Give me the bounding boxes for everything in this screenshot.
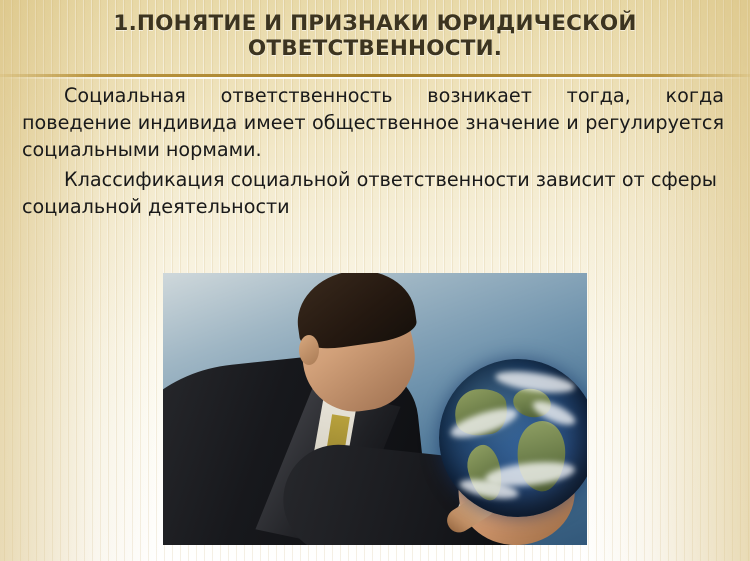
- title-divider-highlight: [0, 77, 750, 79]
- presentation-slide: 1.Понятие и признаки юридической ответст…: [0, 0, 750, 561]
- earth-globe-icon: [439, 359, 587, 517]
- slide-body: Социальная ответственность возникает тог…: [0, 82, 750, 220]
- photo-sky-background: [163, 273, 587, 545]
- body-paragraph-2: Классификация социальной ответственности…: [22, 166, 724, 221]
- slide-title-block: 1.Понятие и признаки юридической ответст…: [0, 0, 750, 68]
- page-title: 1.Понятие и признаки юридической ответст…: [70, 12, 680, 62]
- slide-photo: [163, 273, 587, 545]
- photo-ear: [299, 335, 319, 365]
- body-paragraph-1: Социальная ответственность возникает тог…: [22, 82, 724, 164]
